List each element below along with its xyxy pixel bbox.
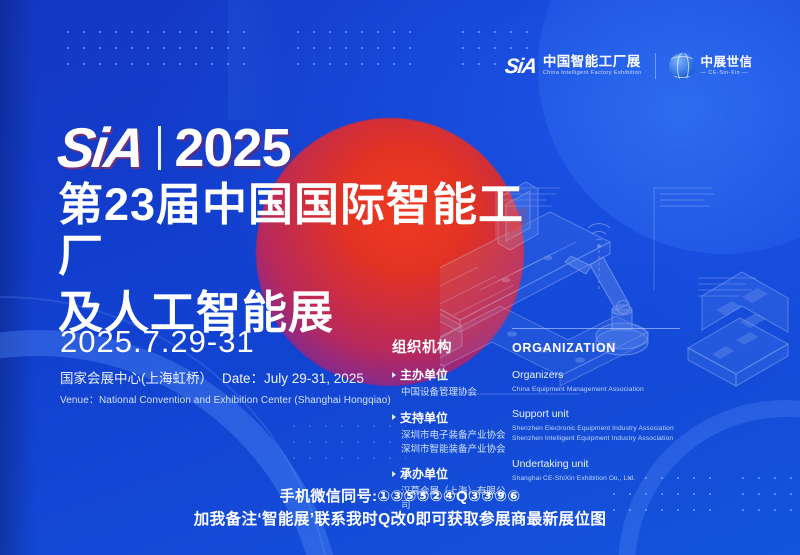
sia-logo-cn: 中国智能工厂展: [543, 55, 642, 69]
sia-logo-mark: SiA: [504, 56, 538, 77]
org-cn-value: 深圳市电子装备产业协会: [401, 429, 510, 443]
org-en-group-undertaking: Undertaking unit Shanghai CE-ShiXin Exhi…: [512, 458, 702, 484]
header-logo-bar: SiA 中国智能工厂展 China Intelligent Factory Ex…: [505, 46, 793, 86]
org-en-group-support: Support unit Shenzhen Electronic Equipme…: [512, 408, 702, 444]
sia-logo-en: China Intelligent Factory Exhibition: [543, 71, 642, 77]
dot-grid-top-mid: [290, 24, 422, 76]
org-en-value: Shanghai CE-ShiXin Exhibition Co., Ltd.: [512, 474, 702, 484]
exhibition-poster: SiA 中国智能工厂展 China Intelligent Factory Ex…: [0, 0, 800, 555]
org-cn-value: 深圳市智能装备产业协会: [401, 443, 510, 457]
org-cn-value: 中国设备管理协会: [401, 386, 510, 400]
organization-cn-heading: 组织机构: [392, 336, 510, 357]
org-en-group-organizers: Organizers China Equipment Management As…: [512, 369, 702, 395]
triangle-bullet-icon: [392, 372, 396, 378]
contact-line-wechat: 手机微信同号:①③⑤⑤②④Q③③⑨⑥: [0, 486, 800, 508]
cesinxin-logo-text: 中展世信 — CE-Sin-Xin —: [701, 56, 753, 77]
org-group-support: 支持单位 深圳市电子装备产业协会 深圳市智能装备产业协会: [392, 409, 510, 457]
sia-logo-text: 中国智能工厂展 China Intelligent Factory Exhibi…: [543, 55, 642, 76]
org-cn-label-text: 承办单位: [400, 465, 448, 482]
org-cn-label: 主办单位: [392, 366, 510, 383]
hero-separator: [158, 126, 161, 170]
org-en-value: Shenzhen Intelligent Equipment Industry …: [512, 434, 702, 444]
hero-sia-mark: SiA: [55, 122, 146, 174]
organization-en-block: ORGANIZATION Organizers China Equipment …: [512, 328, 702, 497]
logo-divider: [655, 53, 656, 79]
triangle-bullet-icon: [392, 414, 396, 420]
logo-sia-header[interactable]: SiA 中国智能工厂展 China Intelligent Factory Ex…: [505, 55, 642, 76]
globe-icon: [669, 53, 695, 79]
org-cn-label: 承办单位: [392, 465, 510, 482]
organization-en-heading: ORGANIZATION: [512, 341, 702, 355]
cesinxin-logo-cn: 中展世信: [701, 56, 753, 69]
organization-divider: [512, 328, 680, 329]
hero-year: 2025: [174, 124, 290, 174]
venue-date-row: 国家会展中心(上海虹桥） Date：July 29-31, 2025: [60, 367, 390, 387]
event-date: 2025.7.29-31: [60, 325, 390, 359]
dot-grid-center-left: [286, 418, 406, 462]
date-venue-block: 2025.7.29-31 国家会展中心(上海虹桥） Date：July 29-3…: [60, 325, 390, 406]
cesinxin-logo-en: — CE-Sin-Xin —: [701, 71, 753, 77]
org-cn-label-text: 支持单位: [400, 409, 448, 426]
org-en-label: Support unit: [512, 408, 702, 420]
triangle-bullet-icon: [392, 471, 396, 477]
logo-cesinxin[interactable]: 中展世信 — CE-Sin-Xin —: [669, 53, 753, 79]
dot-grid-top-left: [60, 24, 248, 76]
event-date-en: Date：July 29-31, 2025: [222, 367, 364, 387]
org-group-host: 主办单位 中国设备管理协会: [392, 366, 510, 400]
venue-en: Venue：National Convention and Exhibition…: [60, 391, 390, 406]
org-cn-label: 支持单位: [392, 409, 510, 426]
hero-block: SiA 2025 第23届中国国际智能工厂 及人工智能展: [58, 112, 528, 339]
venue-cn: 国家会展中心(上海虹桥）: [60, 367, 213, 387]
contact-banner: 手机微信同号:①③⑤⑤②④Q③③⑨⑥ 加我备注‘智能展’联系我时Q改0即可获取参…: [0, 486, 800, 531]
org-en-label: Undertaking unit: [512, 458, 702, 470]
org-en-label: Organizers: [512, 369, 702, 381]
hero-brand-row: SiA 2025: [58, 112, 528, 174]
org-cn-label-text: 主办单位: [400, 366, 448, 383]
contact-line-note: 加我备注‘智能展’联系我时Q改0即可获取参展商最新展位图: [0, 508, 800, 531]
hero-title-line1: 第23届中国国际智能工厂: [58, 180, 528, 282]
org-en-value: China Equipment Management Association: [512, 385, 702, 395]
org-en-value: Shenzhen Electronic Equipment Industry A…: [512, 424, 702, 434]
